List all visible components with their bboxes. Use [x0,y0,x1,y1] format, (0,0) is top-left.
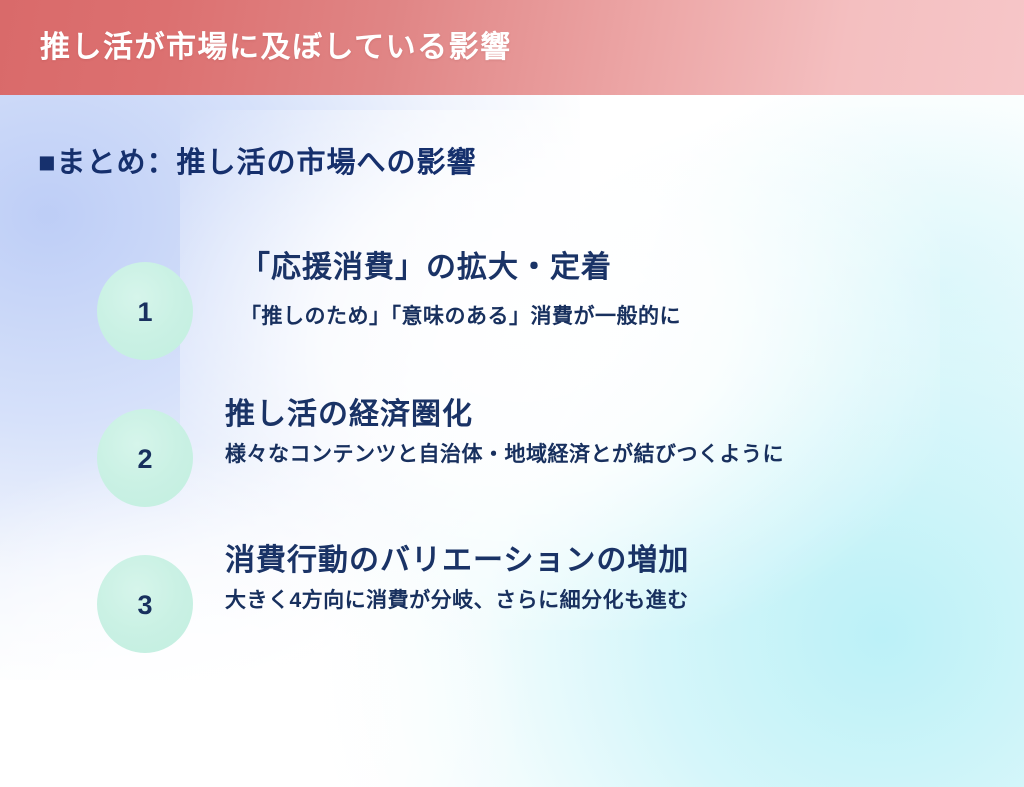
number-badge-3: 3 [97,555,193,653]
list-item-subtitle: 大きく4方向に消費が分岐、さらに細分化も進む [225,588,689,614]
summary-list: 1 「応援消費」の拡大・定着 「推しのため」「意味のある」消費が一般的に 2 推… [0,0,1024,787]
badge-number-label: 3 [137,592,152,619]
number-badge-1: 1 [97,262,193,360]
list-item-subtitle: 様々なコンテンツと自治体・地域経済とが結びつくように [225,442,784,468]
list-item-text-2: 推し活の経済圏化 様々なコンテンツと自治体・地域経済とが結びつくように [225,397,784,468]
badge-number-label: 1 [137,299,152,326]
list-item-subtitle: 「推しのため」「意味のある」消費が一般的に [240,304,681,330]
list-item-title: 「応援消費」の拡大・定着 [240,250,681,286]
list-item-title: 消費行動のバリエーションの増加 [225,543,689,579]
number-badge-2: 2 [97,409,193,507]
list-item-text-1: 「応援消費」の拡大・定着 「推しのため」「意味のある」消費が一般的に [240,250,681,330]
list-item-text-3: 消費行動のバリエーションの増加 大きく4方向に消費が分岐、さらに細分化も進む [225,543,689,614]
list-item-title: 推し活の経済圏化 [225,397,784,433]
slide-canvas: 推し活が市場に及ぼしている影響 ■まとめ：推し活の市場への影響 1 「応援消費」… [0,0,1024,787]
badge-number-label: 2 [137,446,152,473]
